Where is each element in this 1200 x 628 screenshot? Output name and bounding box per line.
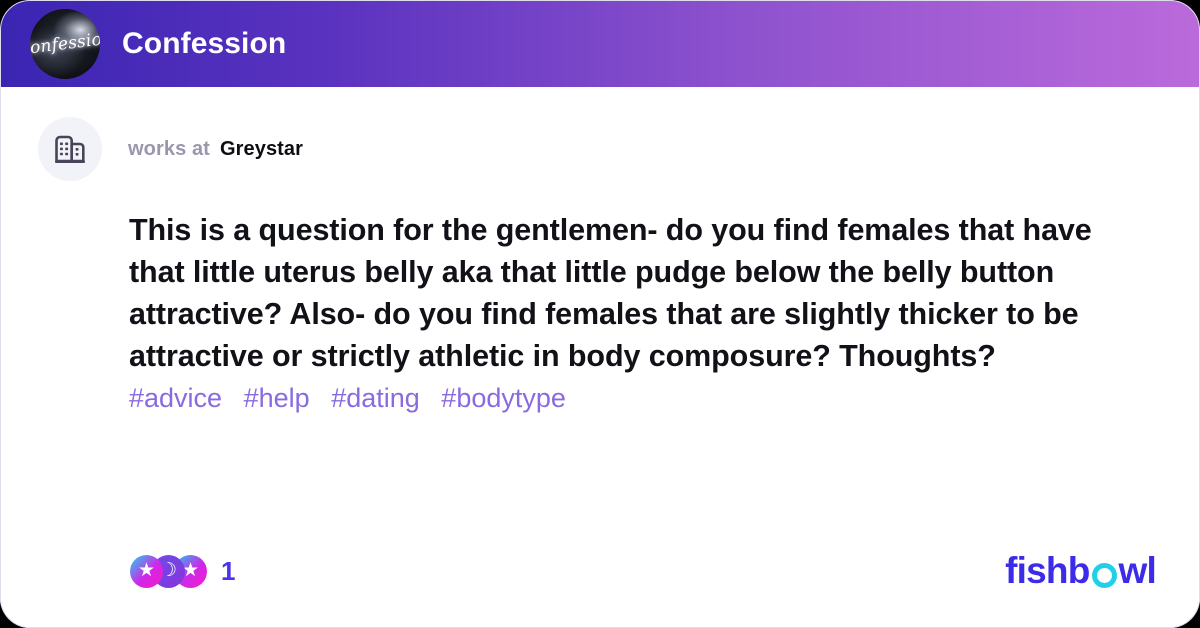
- byline: works at Greystar: [0, 87, 1200, 181]
- avatar-script-text: Confession: [30, 28, 100, 60]
- reactions-group[interactable]: ★ ☽ ★ 1: [130, 555, 235, 588]
- works-at-label: works at: [128, 138, 210, 161]
- reaction-count: 1: [221, 556, 235, 587]
- hashtag-bodytype[interactable]: #bodytype: [441, 379, 566, 417]
- byline-text: works at Greystar: [128, 138, 303, 161]
- star-reaction-icon[interactable]: ★: [130, 555, 163, 588]
- fishbowl-post-card: Confession Confession: [0, 0, 1200, 628]
- fishbowl-bowl-o-icon: [1092, 563, 1117, 588]
- fishbowl-logo-part-2: wl: [1119, 550, 1156, 592]
- post-footer: ★ ☽ ★ 1 fishb wl: [0, 546, 1200, 596]
- hashtag-list: #advice #help #dating #bodytype: [129, 379, 1129, 417]
- hashtag-help[interactable]: #help: [244, 379, 310, 417]
- post-body: works at Greystar This is a question for…: [0, 87, 1200, 628]
- page-title: Confession: [122, 27, 286, 61]
- hashtag-dating[interactable]: #dating: [331, 379, 420, 417]
- fishbowl-logo-part-1: fishb: [1005, 550, 1089, 592]
- building-icon: [38, 117, 102, 181]
- hashtag-advice[interactable]: #advice: [129, 379, 222, 417]
- fishbowl-logo[interactable]: fishb wl: [1005, 550, 1156, 592]
- post-text: This is a question for the gentlemen- do…: [129, 209, 1129, 377]
- avatar[interactable]: Confession: [30, 9, 100, 79]
- post-header: Confession Confession: [0, 0, 1200, 87]
- star-reaction-glyph: ★: [138, 561, 155, 580]
- company-name: Greystar: [220, 138, 303, 161]
